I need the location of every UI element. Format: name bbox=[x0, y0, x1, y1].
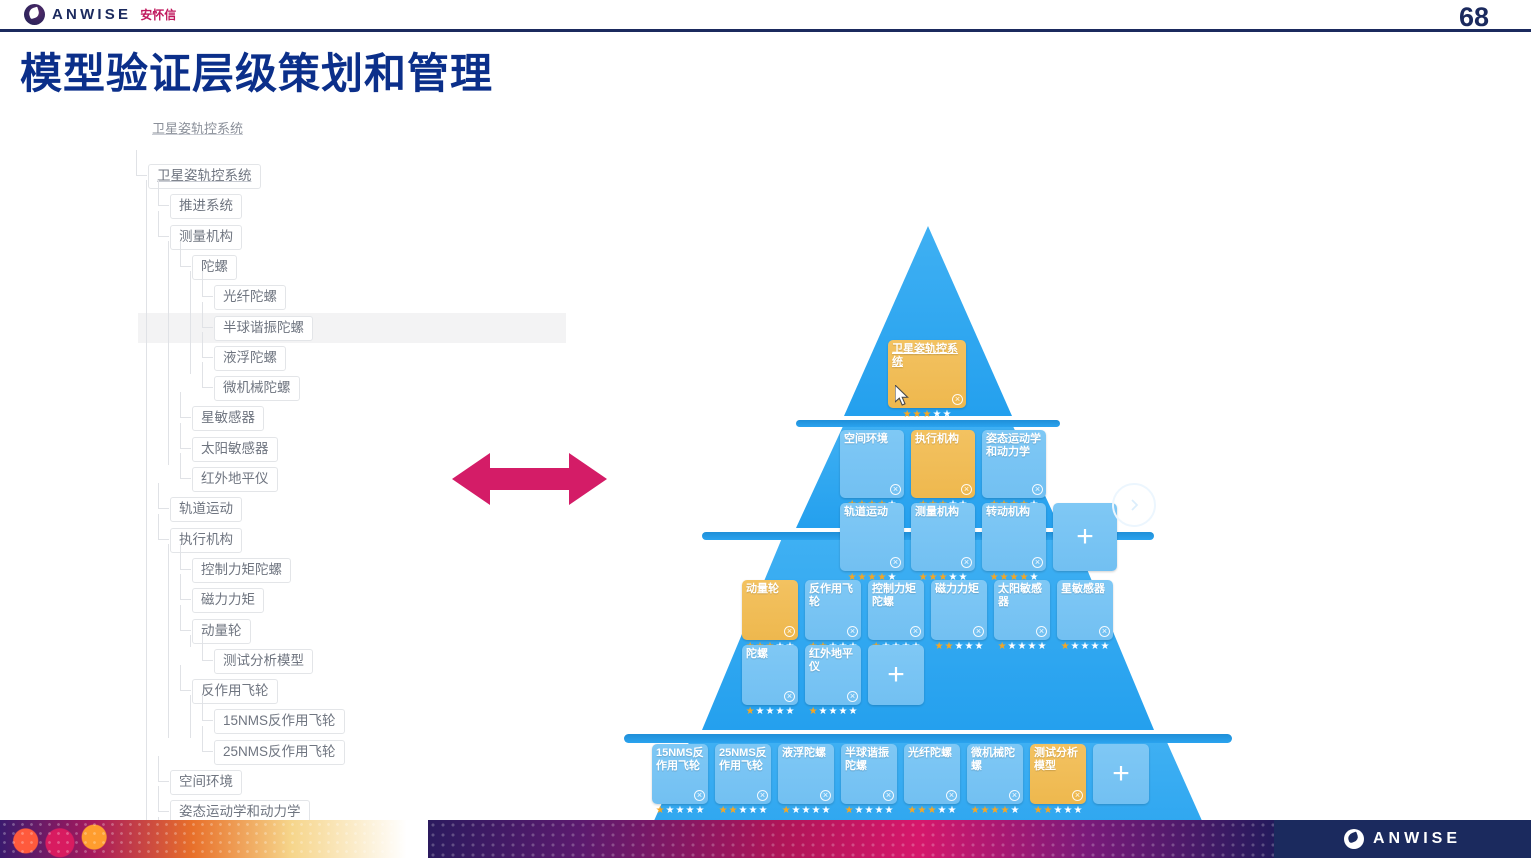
tree-trunk-line bbox=[146, 180, 147, 820]
tree-trunk-line bbox=[190, 695, 191, 737]
tree-node-label[interactable]: 测试分析模型 bbox=[214, 649, 313, 674]
tree-connector bbox=[158, 756, 169, 782]
pyramid-card-label: 磁力力矩 bbox=[935, 583, 983, 596]
tree-node-label[interactable]: 磁力力矩 bbox=[192, 588, 264, 613]
star-icon[interactable]: ★ bbox=[974, 642, 983, 652]
card-row: 15NMS反作用飞轮×★★★★★25NMS反作用飞轮×★★★★★液浮陀螺×★★★… bbox=[652, 744, 1149, 804]
pyramid-card[interactable]: 动量轮×★★★★★ bbox=[742, 580, 798, 640]
tier-2-cards: 空间环境×★★★★★执行机构×★★★★★姿态运动学和动力学×★★★★★轨道运动×… bbox=[840, 430, 1117, 571]
app-canvas: 卫星姿轨控系统 卫星姿轨控系统推进系统测量机构陀螺光纤陀螺半球谐振陀螺液浮陀螺微… bbox=[0, 108, 1531, 820]
pyramid-card[interactable]: 微机械陀螺×★★★★★ bbox=[967, 744, 1023, 804]
tree-node[interactable]: 星敏感器 bbox=[192, 406, 264, 431]
card-row: 动量轮×★★★★★反作用飞轮×★★★★★控制力矩陀螺×★★★★★磁力力矩×★★★… bbox=[742, 580, 1113, 640]
pyramid-card[interactable]: 15NMS反作用飞轮×★★★★★ bbox=[652, 744, 708, 804]
pyramid-card-label: 半球谐振陀螺 bbox=[845, 747, 893, 773]
brand: ANWISE 安怀信 bbox=[0, 4, 176, 25]
pyramid-card-label: 执行机构 bbox=[915, 433, 971, 446]
star-icon[interactable]: ★ bbox=[932, 410, 941, 420]
star-rating[interactable]: ★★★★★ bbox=[652, 806, 708, 816]
pyramid-card-label: 陀螺 bbox=[746, 648, 794, 661]
star-rating[interactable]: ★★★★★ bbox=[967, 806, 1023, 816]
tree-connector bbox=[202, 302, 213, 328]
brand-chinese-name: 安怀信 bbox=[140, 6, 176, 23]
star-rating[interactable]: ★★★★★ bbox=[1030, 806, 1086, 816]
pyramid-card-label: 转动机构 bbox=[986, 506, 1042, 519]
close-icon[interactable]: × bbox=[946, 790, 957, 801]
pyramid-card[interactable]: 红外地平仪×★★★★★ bbox=[805, 645, 861, 705]
tree-node-label[interactable]: 光纤陀螺 bbox=[214, 285, 286, 310]
star-icon[interactable]: ★ bbox=[695, 806, 704, 816]
star-icon[interactable]: ★ bbox=[928, 806, 937, 816]
close-icon[interactable]: × bbox=[757, 790, 768, 801]
star-icon[interactable]: ★ bbox=[865, 806, 874, 816]
pyramid-card[interactable]: 执行机构×★★★★★ bbox=[911, 430, 975, 498]
tree-connector bbox=[202, 362, 213, 388]
pyramid-card-label: 15NMS反作用飞轮 bbox=[656, 747, 704, 773]
star-rating[interactable]: ★★★★★ bbox=[805, 707, 861, 717]
pyramid-card-label: 红外地平仪 bbox=[809, 648, 857, 674]
star-icon[interactable]: ★ bbox=[908, 806, 917, 816]
tree-connector bbox=[136, 150, 147, 176]
star-icon[interactable]: ★ bbox=[874, 806, 883, 816]
close-icon[interactable]: × bbox=[910, 626, 921, 637]
pyramid-card-label: 控制力矩陀螺 bbox=[872, 583, 920, 609]
tree-trunk-line bbox=[168, 241, 169, 465]
tree-trunk-line bbox=[190, 271, 191, 374]
close-icon[interactable]: × bbox=[694, 790, 705, 801]
tree-node[interactable]: 控制力矩陀螺 bbox=[192, 558, 291, 583]
star-icon[interactable]: ★ bbox=[1073, 806, 1082, 816]
tree-node-label[interactable]: 25NMS反作用飞轮 bbox=[214, 740, 345, 765]
close-icon[interactable]: × bbox=[847, 691, 858, 702]
star-rating[interactable]: ★★★★★ bbox=[1057, 642, 1113, 652]
add-card-button[interactable]: + bbox=[1093, 744, 1149, 804]
tree-node-label[interactable]: 陀螺 bbox=[192, 255, 237, 280]
slide-header: ANWISE 安怀信 68 bbox=[0, 0, 1531, 32]
pyramid-card-label: 液浮陀螺 bbox=[782, 747, 830, 760]
tree-connector bbox=[180, 665, 191, 691]
footer-logo: ANWISE bbox=[1274, 820, 1531, 858]
star-icon[interactable]: ★ bbox=[821, 806, 830, 816]
star-icon[interactable]: ★ bbox=[848, 707, 857, 717]
star-icon[interactable]: ★ bbox=[758, 806, 767, 816]
pyramid-card-label: 姿态运动学和动力学 bbox=[986, 433, 1042, 459]
star-icon[interactable]: ★ bbox=[748, 806, 757, 816]
star-icon[interactable]: ★ bbox=[947, 806, 956, 816]
tree-node-label[interactable]: 太阳敏感器 bbox=[192, 437, 278, 462]
pyramid-card-label: 卫星姿轨控系统 bbox=[892, 343, 962, 369]
tree-node[interactable]: 太阳敏感器 bbox=[192, 437, 278, 462]
pyramid-card[interactable]: 磁力力矩×★★★★★ bbox=[931, 580, 987, 640]
star-icon[interactable]: ★ bbox=[838, 707, 847, 717]
tree-node[interactable]: 半球谐振陀螺 bbox=[214, 316, 313, 341]
card-row: 陀螺×★★★★★红外地平仪×★★★★★+ bbox=[742, 645, 1113, 705]
tree-connector bbox=[180, 423, 191, 449]
tree-connector bbox=[180, 574, 191, 600]
tree-node-label[interactable]: 红外地平仪 bbox=[192, 467, 278, 492]
pyramid-card-label: 星敏感器 bbox=[1061, 583, 1109, 596]
star-icon[interactable]: ★ bbox=[811, 806, 820, 816]
brand-wordmark: ANWISE bbox=[52, 6, 131, 23]
star-icon[interactable]: ★ bbox=[782, 806, 791, 816]
star-icon[interactable]: ★ bbox=[1027, 642, 1036, 652]
close-icon[interactable]: × bbox=[1009, 790, 1020, 801]
pyramid-card[interactable]: 轨道运动×★★★★★ bbox=[840, 503, 904, 571]
page-number: 68 bbox=[1459, 2, 1489, 33]
pyramid-card[interactable]: 太阳敏感器×★★★★★ bbox=[994, 580, 1050, 640]
star-rating[interactable]: ★★★★★ bbox=[841, 806, 897, 816]
pyramid-card-label: 反作用飞轮 bbox=[809, 583, 857, 609]
tree-connector bbox=[202, 332, 213, 358]
tier-3-cards: 动量轮×★★★★★反作用飞轮×★★★★★控制力矩陀螺×★★★★★磁力力矩×★★★… bbox=[742, 580, 1113, 705]
tree-node-label[interactable]: 半球谐振陀螺 bbox=[214, 316, 313, 341]
pyramid-card-label: 25NMS反作用飞轮 bbox=[719, 747, 767, 773]
star-icon[interactable]: ★ bbox=[991, 806, 1000, 816]
tree-connector bbox=[180, 392, 191, 418]
pyramid-card-label: 测试分析模型 bbox=[1034, 747, 1082, 773]
star-icon[interactable]: ★ bbox=[739, 806, 748, 816]
tree-node-label[interactable]: 动量轮 bbox=[192, 619, 251, 644]
star-icon[interactable]: ★ bbox=[981, 806, 990, 816]
pyramid-card[interactable]: 半球谐振陀螺×★★★★★ bbox=[841, 744, 897, 804]
star-rating[interactable]: ★★★★★ bbox=[994, 642, 1050, 652]
star-icon[interactable]: ★ bbox=[756, 707, 765, 717]
footer-decoration-middle bbox=[428, 820, 1274, 858]
star-icon[interactable]: ★ bbox=[766, 707, 775, 717]
pyramid-card[interactable]: 测量机构×★★★★★ bbox=[911, 503, 975, 571]
pyramid-card[interactable]: 光纤陀螺×★★★★★ bbox=[904, 744, 960, 804]
star-icon[interactable]: ★ bbox=[1044, 806, 1053, 816]
close-icon[interactable]: × bbox=[973, 626, 984, 637]
star-icon[interactable]: ★ bbox=[884, 806, 893, 816]
tree-node[interactable]: 15NMS反作用飞轮 bbox=[214, 709, 345, 734]
tree-node[interactable]: 陀螺 bbox=[192, 255, 237, 280]
star-icon[interactable]: ★ bbox=[855, 806, 864, 816]
tree-caption: 卫星姿轨控系统 bbox=[152, 118, 243, 137]
close-icon[interactable]: × bbox=[1099, 626, 1110, 637]
star-icon[interactable]: ★ bbox=[656, 806, 665, 816]
tree-node[interactable]: 轨道运动 bbox=[170, 497, 242, 522]
tree-node[interactable]: 空间环境 bbox=[170, 770, 242, 795]
star-icon[interactable]: ★ bbox=[918, 806, 927, 816]
anwise-logo-icon bbox=[24, 4, 45, 25]
pyramid-card[interactable]: 测试分析模型×★★★★★ bbox=[1030, 744, 1086, 804]
tree-connector bbox=[180, 453, 191, 479]
tree-node-label[interactable]: 空间环境 bbox=[170, 770, 242, 795]
tree-node-label[interactable]: 星敏感器 bbox=[192, 406, 264, 431]
star-icon[interactable]: ★ bbox=[1071, 642, 1080, 652]
star-icon[interactable]: ★ bbox=[1010, 806, 1019, 816]
pyramid-card-label: 空间环境 bbox=[844, 433, 900, 446]
star-rating[interactable]: ★★★★★ bbox=[931, 642, 987, 652]
tree-node[interactable]: 液浮陀螺 bbox=[214, 346, 286, 371]
star-rating[interactable]: ★★★★★ bbox=[904, 806, 960, 816]
tree-connector bbox=[202, 695, 213, 721]
page-title: 模型验证层级策划和管理 bbox=[20, 40, 493, 101]
close-icon[interactable]: × bbox=[784, 626, 795, 637]
star-icon[interactable]: ★ bbox=[1100, 642, 1109, 652]
star-icon[interactable]: ★ bbox=[1000, 806, 1009, 816]
star-icon[interactable]: ★ bbox=[666, 806, 675, 816]
pyramid-card[interactable]: 25NMS反作用飞轮×★★★★★ bbox=[715, 744, 771, 804]
pyramid-diagram: 卫星姿轨控系统×★★★★★ 空间环境×★★★★★执行机构×★★★★★姿态运动学和… bbox=[560, 158, 1305, 820]
tree-node-label[interactable]: 控制力矩陀螺 bbox=[192, 558, 291, 583]
tree-trunk-line bbox=[168, 544, 169, 738]
star-icon[interactable]: ★ bbox=[845, 806, 854, 816]
pyramid-card-label: 微机械陀螺 bbox=[971, 747, 1019, 773]
pyramid-card[interactable]: 液浮陀螺×★★★★★ bbox=[778, 744, 834, 804]
close-icon[interactable]: × bbox=[890, 484, 901, 495]
pyramid-card-label: 轨道运动 bbox=[844, 506, 900, 519]
anwise-logo-icon bbox=[1344, 829, 1364, 849]
star-rating[interactable]: ★★★★★ bbox=[742, 707, 798, 717]
tree-node[interactable]: 红外地平仪 bbox=[192, 467, 278, 492]
tree-node-label[interactable]: 微机械陀螺 bbox=[214, 376, 300, 401]
star-icon[interactable]: ★ bbox=[809, 707, 818, 717]
add-card-button[interactable]: + bbox=[868, 645, 924, 705]
tree-node-label[interactable]: 15NMS反作用飞轮 bbox=[214, 709, 345, 734]
close-icon[interactable]: × bbox=[1072, 790, 1083, 801]
star-icon[interactable]: ★ bbox=[1018, 642, 1027, 652]
tree-connector bbox=[180, 544, 191, 570]
tree-connector bbox=[202, 726, 213, 752]
star-icon[interactable]: ★ bbox=[785, 707, 794, 717]
tree-node[interactable]: 25NMS反作用飞轮 bbox=[214, 740, 345, 765]
star-icon[interactable]: ★ bbox=[802, 806, 811, 816]
close-icon[interactable]: × bbox=[952, 394, 963, 405]
mouse-cursor-icon bbox=[895, 385, 911, 412]
star-icon[interactable]: ★ bbox=[923, 410, 932, 420]
star-icon[interactable]: ★ bbox=[1090, 642, 1099, 652]
close-icon[interactable]: × bbox=[1032, 557, 1043, 568]
star-icon[interactable]: ★ bbox=[1054, 806, 1063, 816]
pyramid-card[interactable]: 转动机构×★★★★★ bbox=[982, 503, 1046, 571]
tree-node[interactable]: 测试分析模型 bbox=[214, 649, 313, 674]
star-icon[interactable]: ★ bbox=[1081, 642, 1090, 652]
star-icon[interactable]: ★ bbox=[942, 410, 951, 420]
star-icon[interactable]: ★ bbox=[955, 642, 964, 652]
star-icon[interactable]: ★ bbox=[719, 806, 728, 816]
star-icon[interactable]: ★ bbox=[829, 707, 838, 717]
pyramid-card[interactable]: 姿态运动学和动力学×★★★★★ bbox=[982, 430, 1046, 498]
tree-node-label[interactable]: 液浮陀螺 bbox=[214, 346, 286, 371]
pyramid-card[interactable]: 反作用飞轮×★★★★★ bbox=[805, 580, 861, 640]
tree-node[interactable]: 姿态运动学和动力学 bbox=[170, 800, 310, 820]
tree-connector bbox=[158, 514, 169, 540]
close-icon[interactable]: × bbox=[883, 790, 894, 801]
tree-node[interactable]: 动量轮 bbox=[192, 619, 251, 644]
footer-wordmark: ANWISE bbox=[1373, 830, 1461, 848]
pyramid-card-label: 测量机构 bbox=[915, 506, 971, 519]
tree-connector bbox=[158, 786, 169, 812]
pyramid-card-label: 太阳敏感器 bbox=[998, 583, 1046, 609]
close-icon[interactable]: × bbox=[961, 484, 972, 495]
pyramid-card[interactable]: 控制力矩陀螺×★★★★★ bbox=[868, 580, 924, 640]
close-icon[interactable]: × bbox=[1036, 626, 1047, 637]
tree-node-label[interactable]: 轨道运动 bbox=[170, 497, 242, 522]
star-icon[interactable]: ★ bbox=[775, 707, 784, 717]
star-icon[interactable]: ★ bbox=[792, 806, 801, 816]
tree-node[interactable]: 微机械陀螺 bbox=[214, 376, 300, 401]
tree-connector bbox=[158, 211, 169, 237]
star-rating[interactable]: ★★★★★ bbox=[715, 806, 771, 816]
tree-node-label[interactable]: 姿态运动学和动力学 bbox=[170, 800, 310, 820]
star-icon[interactable]: ★ bbox=[913, 410, 922, 420]
add-card-button[interactable]: + bbox=[1053, 503, 1117, 571]
pyramid-card-label: 动量轮 bbox=[746, 583, 794, 596]
pyramid-card[interactable]: 星敏感器×★★★★★ bbox=[1057, 580, 1113, 640]
star-icon[interactable]: ★ bbox=[964, 642, 973, 652]
star-icon[interactable]: ★ bbox=[945, 642, 954, 652]
pyramid-card[interactable]: 空间环境×★★★★★ bbox=[840, 430, 904, 498]
tree-connector bbox=[202, 271, 213, 297]
star-icon[interactable]: ★ bbox=[971, 806, 980, 816]
star-icon[interactable]: ★ bbox=[676, 806, 685, 816]
tree-node[interactable]: 磁力力矩 bbox=[192, 588, 264, 613]
star-icon[interactable]: ★ bbox=[1061, 642, 1070, 652]
card-row: 空间环境×★★★★★执行机构×★★★★★姿态运动学和动力学×★★★★★ bbox=[840, 430, 1117, 498]
pyramid-card[interactable]: 陀螺×★★★★★ bbox=[742, 645, 798, 705]
star-icon[interactable]: ★ bbox=[746, 707, 755, 717]
close-icon[interactable]: × bbox=[820, 790, 831, 801]
star-icon[interactable]: ★ bbox=[685, 806, 694, 816]
chevron-right-icon[interactable] bbox=[1112, 483, 1156, 527]
star-icon[interactable]: ★ bbox=[935, 642, 944, 652]
close-icon[interactable]: × bbox=[1032, 484, 1043, 495]
tier-4-cards: 15NMS反作用飞轮×★★★★★25NMS反作用飞轮×★★★★★液浮陀螺×★★★… bbox=[652, 744, 1149, 804]
tree-connector bbox=[202, 635, 213, 661]
star-icon[interactable]: ★ bbox=[1034, 806, 1043, 816]
footer-decoration-left bbox=[0, 820, 428, 858]
star-icon[interactable]: ★ bbox=[1063, 806, 1072, 816]
tree-connector bbox=[158, 483, 169, 509]
close-icon[interactable]: × bbox=[961, 557, 972, 568]
slide-footer: ANWISE bbox=[0, 820, 1531, 858]
close-icon[interactable]: × bbox=[784, 691, 795, 702]
star-icon[interactable]: ★ bbox=[819, 707, 828, 717]
star-icon[interactable]: ★ bbox=[729, 806, 738, 816]
close-icon[interactable]: × bbox=[847, 626, 858, 637]
pyramid-card-label: 光纤陀螺 bbox=[908, 747, 956, 760]
tree-connector bbox=[158, 180, 169, 206]
star-rating[interactable]: ★★★★★ bbox=[778, 806, 834, 816]
tree-node[interactable]: 光纤陀螺 bbox=[214, 285, 286, 310]
tree-node[interactable]: 推进系统 bbox=[170, 194, 242, 219]
tree-connector bbox=[180, 605, 191, 631]
star-icon[interactable]: ★ bbox=[937, 806, 946, 816]
tree-trunk-line bbox=[190, 635, 191, 647]
star-icon[interactable]: ★ bbox=[1008, 642, 1017, 652]
card-row: 轨道运动×★★★★★测量机构×★★★★★转动机构×★★★★★+ bbox=[840, 503, 1117, 571]
star-icon[interactable]: ★ bbox=[1037, 642, 1046, 652]
tree-node-label[interactable]: 推进系统 bbox=[170, 194, 242, 219]
star-icon[interactable]: ★ bbox=[998, 642, 1007, 652]
close-icon[interactable]: × bbox=[890, 557, 901, 568]
tree-connector bbox=[180, 241, 191, 267]
